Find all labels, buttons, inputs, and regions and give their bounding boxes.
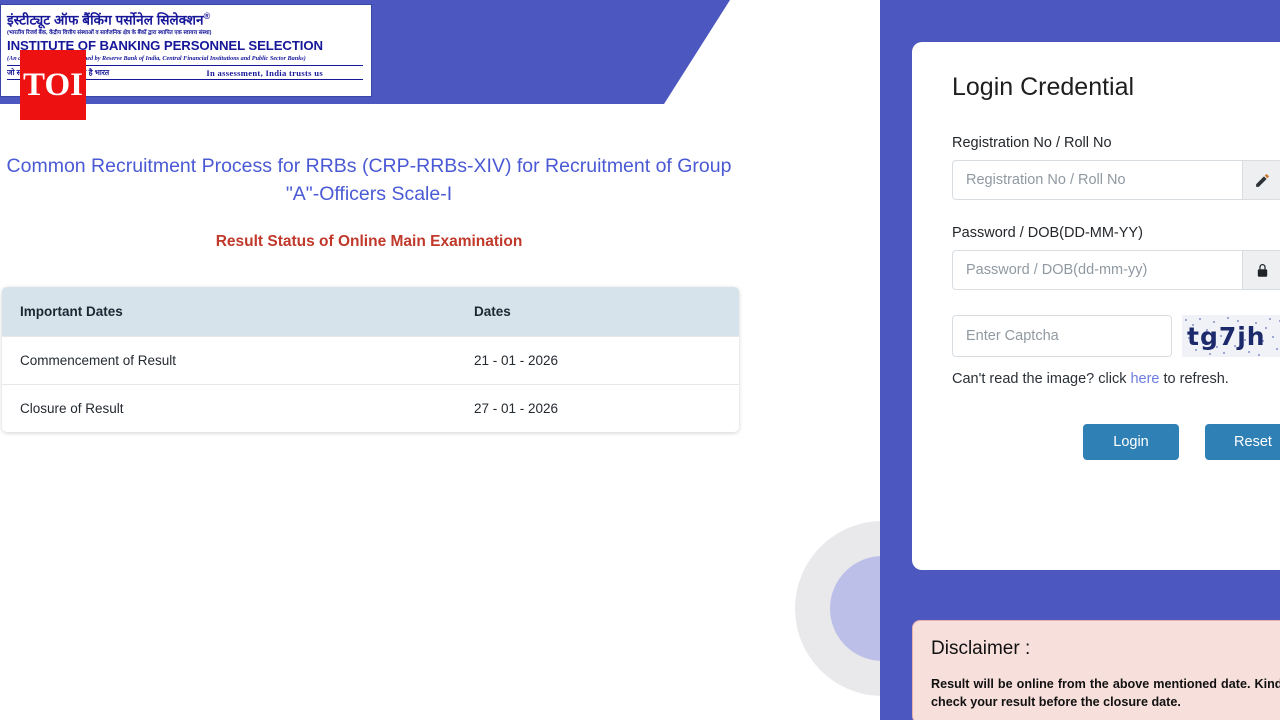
banner-hindi-title: इंस्टीट्यूट ऑफ बैंकिंग पर्सोनेल सिलेक्शन… [7, 8, 363, 29]
login-heading: Login Credential [952, 70, 1280, 104]
table-header-row: Important Dates Dates [2, 287, 739, 336]
toi-watermark-logo: TOI [20, 50, 86, 120]
banner-hindi-title-text: इंस्टीट्यूट ऑफ बैंकिंग पर्सोनेल सिलेक्शन [7, 13, 204, 28]
login-button-row: Login Reset [952, 424, 1280, 460]
pencil-icon [1242, 160, 1280, 200]
table-cell-label: Closure of Result [2, 384, 474, 432]
login-button[interactable]: Login [1083, 424, 1179, 460]
banner-hindi-subtitle: (भारतीय रिजर्व बैंक, केंद्रीय वित्तीय सं… [7, 29, 363, 38]
captcha-row: tg7jh [952, 315, 1280, 357]
registration-label: Registration No / Roll No [952, 135, 1280, 151]
toi-watermark-text: TOI [23, 69, 83, 102]
captcha-refresh-link[interactable]: here [1130, 371, 1159, 387]
registration-input[interactable] [952, 160, 1242, 200]
registration-input-group [952, 160, 1280, 200]
captcha-input[interactable] [952, 315, 1172, 357]
captcha-image: tg7jh [1182, 315, 1280, 357]
disclaimer-body: Result will be online from the above men… [931, 675, 1280, 711]
disclaimer-heading: Disclaimer : [931, 637, 1280, 661]
table-cell-label: Commencement of Result [2, 336, 474, 384]
refresh-prefix: Can't read the image? click [952, 371, 1130, 387]
registered-mark-icon: ® [204, 11, 211, 21]
banner-tagline: In assessment, India trusts us [206, 68, 363, 78]
page-title: Common Recruitment Process for RRBs (CRP… [0, 152, 738, 208]
login-card: Login Credential Registration No / Roll … [912, 42, 1280, 570]
page-subtitle: Result Status of Online Main Examination [0, 231, 738, 252]
table-header-dates: Dates [474, 287, 739, 336]
reset-button[interactable]: Reset [1205, 424, 1280, 460]
lock-icon [1242, 250, 1280, 290]
password-label: Password / DOB(DD-MM-YY) [952, 225, 1280, 241]
table-cell-date: 21 - 01 - 2026 [474, 336, 739, 384]
refresh-suffix: to refresh. [1160, 371, 1229, 387]
table-cell-date: 27 - 01 - 2026 [474, 384, 739, 432]
page-root: इंस्टीट्यूट ऑफ बैंकिंग पर्सोनेल सिलेक्शन… [0, 0, 1280, 720]
table-row: Closure of Result 27 - 01 - 2026 [2, 384, 739, 432]
important-dates-table: Important Dates Dates Commencement of Re… [2, 287, 739, 432]
password-input-group [952, 250, 1280, 290]
table-header-important-dates: Important Dates [2, 287, 474, 336]
table-row: Commencement of Result 21 - 01 - 2026 [2, 336, 739, 384]
disclaimer-box: Disclaimer : Result will be online from … [912, 620, 1280, 720]
captcha-refresh-line: Can't read the image? click here to refr… [952, 371, 1280, 387]
password-input[interactable] [952, 250, 1242, 290]
captcha-text: tg7jh [1182, 322, 1266, 351]
